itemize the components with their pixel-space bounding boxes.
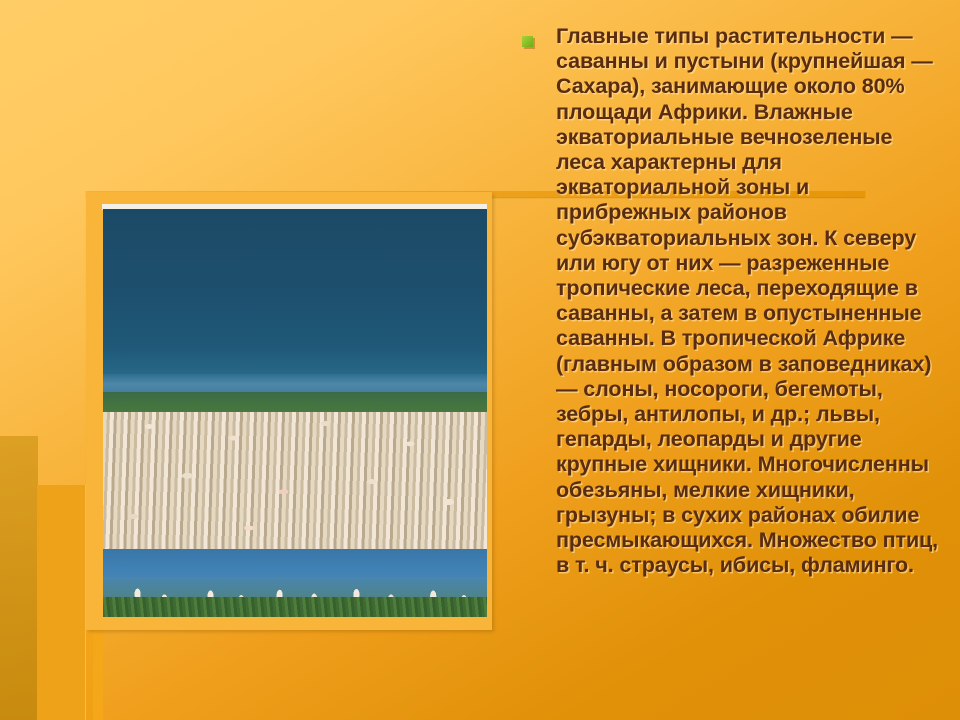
picture-frame (86, 192, 492, 630)
content-text-block: Главные типы растительности — саванны и … (515, 24, 945, 578)
slide-body-text: Главные типы растительности — саванны и … (515, 24, 945, 578)
flamingo-colony-photo (103, 209, 487, 617)
presentation-slide: Главные типы растительности — саванны и … (0, 0, 960, 720)
photo-layer-flamingo-flock (103, 412, 487, 557)
decorative-band-far-left (0, 436, 38, 720)
photo-layer-foreground-grass (103, 597, 487, 617)
photo-layer-deep-water (103, 209, 487, 381)
decorative-band-left-block (37, 485, 87, 720)
bullet-row: Главные типы растительности — саванны и … (515, 24, 945, 578)
square-bullet-icon (522, 36, 533, 47)
